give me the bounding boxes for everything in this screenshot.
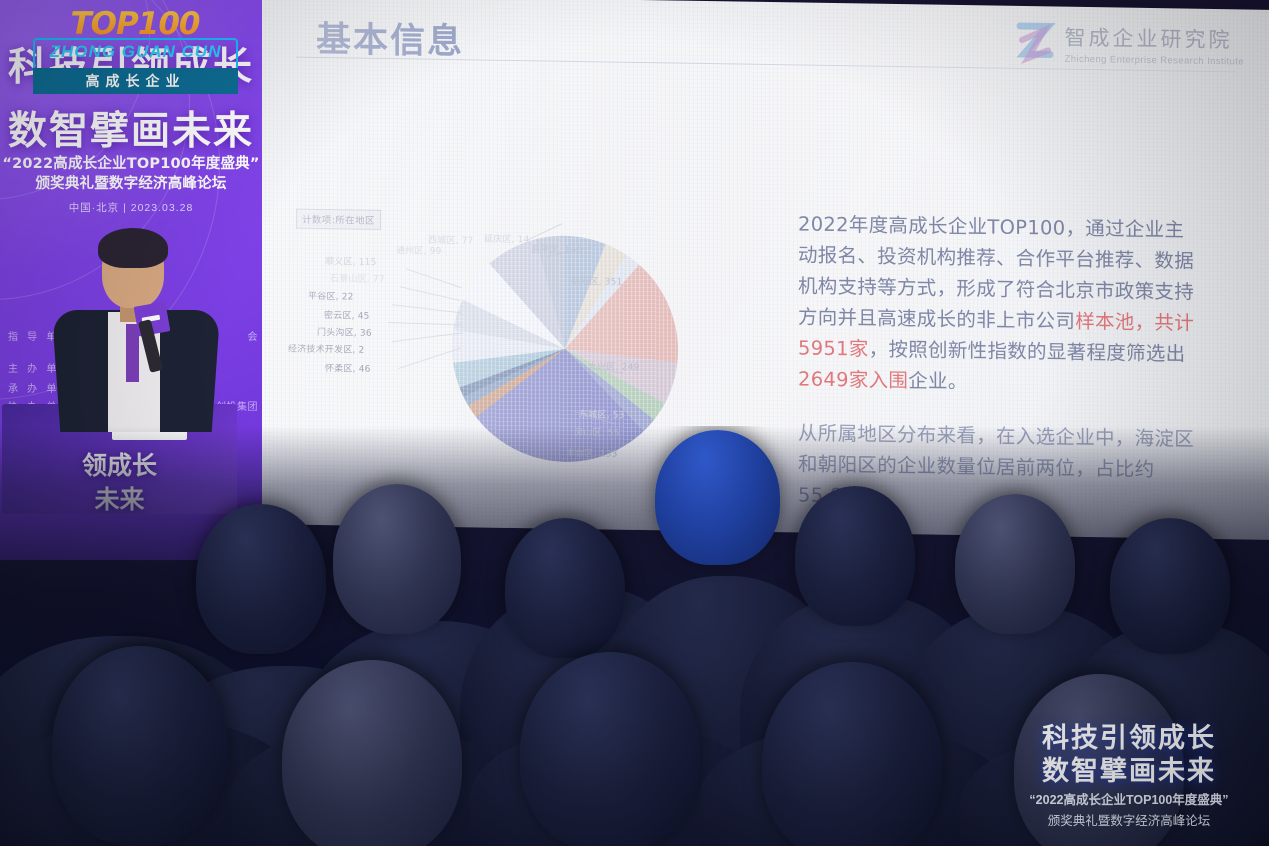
slide-paragraph-1: 2022年度高成长企业TOP100，通过企业主动报名、投资机构推荐、合作平台推荐… bbox=[798, 208, 1200, 400]
page-title: 基本信息 bbox=[316, 11, 464, 64]
pie-label-kaifaqu: 经济技术开发区, 2 bbox=[288, 341, 364, 355]
brand-name-en: Zhicheng Enterprise Research Institute bbox=[1065, 53, 1244, 67]
watermark-headline-2: 数智擘画未来 bbox=[1007, 755, 1251, 788]
backdrop-subtitle-1: “2022高成长企业TOP100年度盛典” bbox=[0, 152, 262, 173]
leader-line bbox=[400, 286, 461, 301]
audience-head bbox=[505, 518, 625, 658]
top100-badge: TOP100 bbox=[60, 6, 210, 42]
audience-head bbox=[520, 652, 700, 846]
speaker bbox=[58, 232, 208, 432]
watermark-subtitle-2: 颁奖典礼暨数字经济高峰论坛 bbox=[1007, 812, 1251, 830]
pie-label-chaoyang: 朝阳区, 351 bbox=[571, 274, 623, 288]
pie-label-daxing: 大兴区, 249 bbox=[588, 359, 640, 373]
pie-label-changping: 昌平区, 140 bbox=[531, 242, 583, 256]
brand-logo: 智成企业研究院 Zhicheng Enterprise Research Ins… bbox=[1014, 20, 1244, 68]
p1-highlight-2: 2649家入围 bbox=[798, 367, 908, 392]
event-watermark: 科技引领成长 数智擘画未来 “2022高成长企业TOP100年度盛典” 颁奖典礼… bbox=[1007, 722, 1251, 830]
p1-part-c: 企业。 bbox=[908, 369, 967, 393]
chart-title: 计数项:所在地区 bbox=[296, 209, 381, 230]
audience-head bbox=[1110, 518, 1230, 654]
organizer-value-0: 会 bbox=[248, 328, 259, 343]
p1-part-b: ，按照创新性指数的显著程度筛选出 bbox=[869, 338, 1186, 366]
backdrop-subtitle-2: 颁奖典礼暨数字经济高峰论坛 bbox=[0, 172, 262, 193]
zhongguancun-cn-bar: 高成长企业 bbox=[33, 68, 238, 94]
top100-label: TOP100 bbox=[60, 6, 210, 42]
pie-label-shunyi: 顺义区, 115 bbox=[325, 254, 377, 268]
zhongguancun-cn-label: 高成长企业 bbox=[86, 71, 186, 91]
pie-label-mentougou: 门头沟区, 36 bbox=[317, 325, 372, 339]
z-logo-icon bbox=[1014, 20, 1056, 65]
pie-label-pinggu: 平谷区, 22 bbox=[308, 289, 354, 303]
audience-head bbox=[196, 504, 326, 654]
audience-head bbox=[795, 486, 915, 626]
speaker-tie bbox=[126, 324, 139, 382]
leader-line bbox=[392, 304, 462, 313]
audience-head bbox=[955, 494, 1075, 634]
audience-head bbox=[655, 430, 780, 565]
pie-label-yanqing: 延庆区, 14 bbox=[484, 232, 530, 246]
leader-line bbox=[398, 348, 461, 369]
audience-foreground: 科技引领成长 数智擘画未来 “2022高成长企业TOP100年度盛典” 颁奖典礼… bbox=[0, 426, 1269, 846]
screenshot-root: 基本信息 智成企业研究院 Zhicheng Enterprise Researc… bbox=[0, 0, 1269, 846]
pie-label-shijingshan: 石景山区, 77 bbox=[330, 271, 385, 285]
watermark-headline-1: 科技引领成长 bbox=[1007, 722, 1251, 755]
zhongguancun-en-label: ZHONG GUAN CUN bbox=[33, 42, 238, 62]
brand-name-cn: 智成企业研究院 bbox=[1065, 21, 1244, 54]
leader-line bbox=[406, 268, 461, 288]
watermark-subtitle-1: “2022高成长企业TOP100年度盛典” bbox=[1007, 791, 1251, 809]
audience-head bbox=[282, 660, 462, 846]
pie-label-huairou: 怀柔区, 46 bbox=[325, 361, 371, 375]
audience-head bbox=[762, 662, 942, 846]
leader-line bbox=[388, 322, 462, 325]
speaker-hair bbox=[98, 228, 168, 268]
backdrop-date: 中国·北京 | 2023.03.28 bbox=[0, 200, 262, 215]
pie-label-xicheng: 西城区, 77 bbox=[428, 233, 474, 247]
pie-label-miyun: 密云区, 45 bbox=[324, 308, 370, 322]
pie-label-dongcheng: 东城区, 53 bbox=[579, 407, 625, 421]
audience-head bbox=[52, 646, 228, 846]
backdrop-headline-2: 数智擘画未来 bbox=[0, 100, 262, 156]
audience-head bbox=[333, 484, 461, 634]
